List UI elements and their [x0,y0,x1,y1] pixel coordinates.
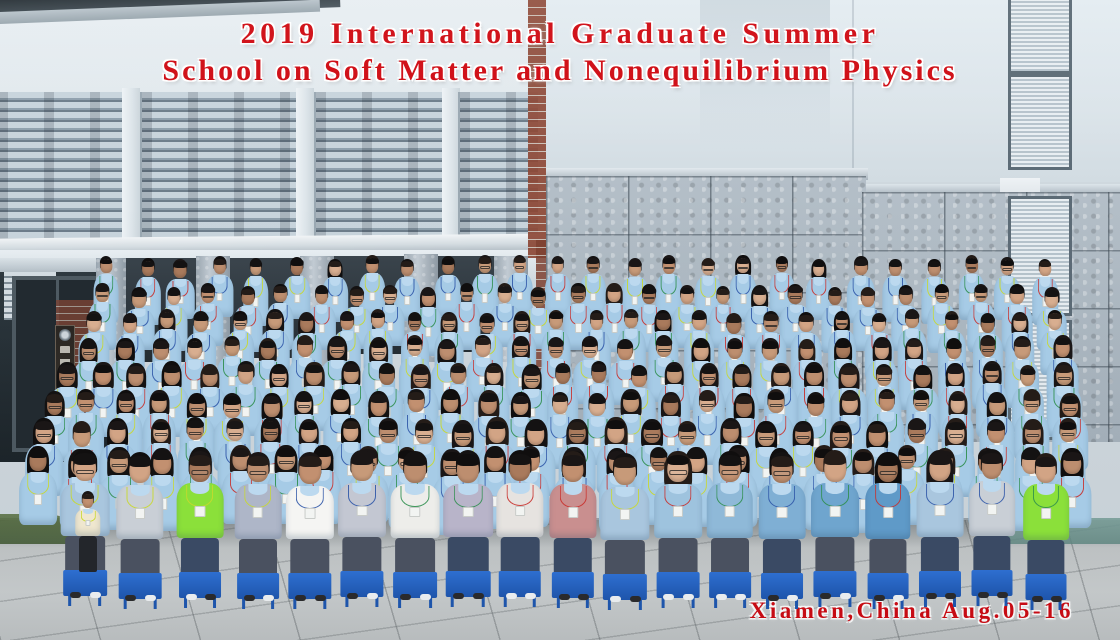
seated-person [337,451,386,611]
hair-fringe [737,258,750,264]
standing-person [19,447,58,525]
glasses-icon [331,350,343,353]
name-badge [34,494,42,505]
glasses-icon [681,436,694,439]
lanyard [926,484,953,506]
glasses-icon [352,299,363,302]
glasses-icon [480,266,490,268]
hair-fringe [841,393,858,401]
shoe [559,594,570,600]
hair-fringe [1023,393,1039,401]
hair-fringe [1062,396,1079,404]
hair-fringe [189,396,205,404]
hair-fringe [96,286,109,292]
hair-fringe [795,424,812,432]
glasses-icon [120,404,132,407]
hair-fringe [806,365,822,373]
hair-fringe [948,366,963,373]
hair-fringe [877,456,898,466]
shoe [840,593,851,599]
hair-fringe [768,392,784,400]
glasses-icon [584,350,596,353]
polo-shirt [116,485,163,539]
hair-fringe [950,394,965,402]
name-badge [305,508,316,519]
hair-fringe [129,456,151,467]
name-badge [445,293,451,302]
hair-fringe [118,393,133,400]
glasses-icon [515,266,525,268]
name-badge [253,507,263,518]
shoe [506,593,517,599]
shoe [1032,596,1043,602]
glasses-icon [878,378,890,381]
hair-fringe [371,312,385,319]
shoe [367,593,378,599]
hair-fringe [854,259,867,266]
hair-fringe [238,364,254,372]
hair-fringe [513,257,525,263]
hair-fringe [298,338,313,346]
shoe [205,594,216,600]
hair-fringe [74,453,97,464]
name-badge [85,520,91,525]
hair-fringe [889,261,901,267]
hair-fringe [657,313,671,320]
hair-fringe [1056,365,1072,373]
hair-fringe [514,339,529,346]
hair-fringe [945,314,958,320]
glasses-icon [525,379,538,382]
lanyard [1033,486,1059,508]
hair-fringe [350,289,364,296]
hair-fringe [454,424,472,433]
glasses-icon [444,324,455,327]
seated-person [496,451,544,611]
name-badge [725,506,735,517]
hair-fringe [456,454,479,465]
name-badge [357,506,368,517]
glasses-icon [777,266,786,268]
glasses-icon [298,405,310,408]
hair-fringe [82,494,94,500]
name-badge [410,507,421,518]
hair-fringe [413,367,429,375]
hair-fringe [622,392,639,400]
hair-fringe [947,341,962,348]
plastic-stool [393,572,437,598]
hair-fringe [101,259,113,265]
hair-fringe [807,395,824,403]
hair-fringe [187,420,203,428]
plastic-stool [446,571,491,597]
seated-person [285,453,334,613]
hair-fringe [874,340,889,347]
polo-shirt [549,484,596,539]
hair-fringe [451,366,466,373]
hair-fringe [552,395,567,402]
glasses-icon [949,434,963,437]
hair-fringe [988,422,1005,430]
lanyard [979,483,1005,505]
hair-fringe [692,313,706,320]
hair-fringe [608,285,621,292]
hair-fringe [618,341,633,348]
glasses-icon [225,409,239,412]
name-badge [463,507,474,518]
hair-fringe [656,338,672,346]
polo-shirt [654,484,702,538]
name-badge [482,293,488,302]
glasses-icon [550,350,562,353]
hair-fringe [771,456,793,467]
hair-fringe [509,454,531,465]
hair-fringe [562,455,584,466]
hair-fringe [642,287,655,294]
glasses-icon [967,267,977,269]
lanyard [244,486,271,508]
glasses-icon [770,404,783,407]
glasses-icon [915,403,927,406]
hair-fringe [250,261,262,267]
shoe [735,594,746,600]
hair-fringe [935,286,949,293]
hair-fringe [193,314,208,321]
polo-shirt [286,486,334,540]
hair-fringe [77,392,94,400]
hair-fringe [260,341,275,348]
hair-fringe [81,341,96,348]
hair-fringe [752,288,766,295]
hair-fringe [812,261,824,267]
glasses-icon [189,432,202,435]
child [75,492,101,578]
seated-person [969,450,1016,610]
hair-fringe [788,286,802,293]
hair-fringe [1001,260,1013,266]
hair-fringe [296,394,311,402]
glasses-icon [1025,404,1038,407]
shoe [295,595,306,601]
glasses-icon [409,349,421,352]
glasses-icon [1026,434,1039,437]
name-badge [620,509,631,520]
shoe [610,596,621,602]
seated-person [116,453,164,613]
shoe [630,596,641,602]
hair-fringe [128,366,144,374]
shoe [663,594,674,600]
lanyard [296,488,324,509]
hair-fringe [679,424,696,432]
hair-fringe [680,288,693,295]
hair-fringe [523,368,540,376]
hair-fringe [869,424,886,433]
hair-fringe [1060,422,1076,430]
hair-fringe [587,258,599,264]
hair-fringe [291,259,304,265]
polo-shirt [496,483,543,537]
lanyard [126,487,154,509]
shoe [716,594,727,600]
polo-shirt [391,484,440,537]
hair-fringe [1035,457,1056,468]
glasses-icon [1058,377,1071,380]
name-badge [195,506,205,517]
hair-fringe [590,313,603,320]
shoe [578,594,589,600]
seated-person [916,451,964,611]
hair-fringe [736,396,753,404]
hair-fringe [330,339,346,347]
hair-fringe [981,316,995,323]
hair-fringe [109,421,126,430]
hair-fringe [340,314,353,321]
hair-fringe [589,396,605,404]
shoe [453,593,464,599]
hair-fringe [118,341,133,348]
hair-fringe [187,341,202,348]
name-badge [515,506,525,517]
hair-fringe [154,341,169,349]
hair-fringe [268,312,282,319]
hair-fringe [1014,339,1030,347]
seated-person [234,453,281,613]
hair-fringe [728,341,743,348]
glasses-icon [1064,408,1077,411]
hair-fringe [1013,314,1027,321]
hair-fringe [132,290,146,297]
hair-fringe [549,339,564,346]
glasses-icon [533,300,544,303]
hair-fringe [225,339,239,346]
hair-fringe [408,392,424,400]
polo-shirt [759,484,806,539]
hair-fringe [213,259,226,265]
shoe [1051,596,1062,602]
hair-fringe [1048,313,1062,320]
glasses-icon [61,377,74,380]
polo-shirt [917,482,964,537]
shoe [683,594,694,600]
glasses-icon [703,377,715,380]
hair-fringe [201,286,215,293]
hair-fringe [443,392,459,400]
glasses-icon [982,349,994,352]
polo-shirt [1023,484,1069,539]
hair-fringe [727,316,742,323]
glasses-icon [203,296,214,299]
hair-fringe [835,313,848,319]
name-badge [673,506,683,517]
hair-fringe [629,261,641,267]
hair-fringe [73,425,91,434]
hair-fringe [776,258,788,264]
glasses-icon [834,437,848,440]
polo-shirt [865,483,910,539]
glasses-icon [155,433,168,436]
glasses-icon [414,379,427,382]
hair-fringe [989,395,1005,403]
hair-fringe [800,342,814,349]
name-badge [987,504,997,515]
glasses-icon [264,432,277,435]
hair-fringe [274,286,287,292]
shoe [90,592,101,598]
hair-fringe [299,456,322,467]
hair-fringe [975,286,988,292]
hair-fringe [87,314,102,321]
hair-fringe [189,455,211,466]
hair-fringe [29,449,47,458]
glasses-icon [571,434,584,437]
hair-fringe [663,395,679,403]
glasses-icon [417,435,430,438]
hair-fringe [422,290,435,296]
hair-fringe [383,287,397,294]
hair-fringe [694,341,709,349]
hair-fringe [758,424,775,433]
shoe [420,594,431,600]
hair-fringe [35,421,53,430]
hair-fringe [981,453,1002,464]
glasses-icon [1062,433,1075,436]
hair-fringe [799,315,813,322]
glasses-icon [936,296,947,299]
lanyard [768,486,795,508]
glasses-icon [48,406,61,409]
name-badge [1041,508,1051,519]
polo-shirt [443,484,493,537]
hair-fringe [700,393,715,401]
hair-fringe [613,457,636,468]
hair-fringe [905,312,918,319]
glasses-icon [986,375,998,378]
shoe [315,595,326,601]
hair-fringe [1045,290,1059,297]
name-badge [666,294,672,303]
plastic-stool [603,574,647,600]
hair-fringe [702,260,714,266]
seated-person [1023,454,1070,614]
lanyard [821,485,849,507]
lanyard [875,485,901,507]
shoe [347,593,358,599]
shoe [70,592,81,598]
glasses-icon [796,436,809,439]
shoe [874,595,885,601]
seated-person [654,452,703,612]
hair-fringe [498,286,512,293]
glasses-icon [773,471,790,475]
polo-shirt [707,483,754,538]
hair-fringe [460,285,473,291]
shoe [244,595,255,601]
shoe [926,593,937,599]
glasses-icon [910,434,924,437]
hair-fringe [442,259,454,265]
hair-fringe [174,261,187,268]
hair-fringe [1055,338,1070,346]
hair-fringe [224,396,241,404]
glasses-icon [1003,268,1013,270]
hair-fringe [631,368,646,375]
hair-fringe [332,392,349,400]
glasses-icon [589,267,599,269]
hair-fringe [832,425,850,434]
hair-fringe [899,288,913,295]
hair-fringe [234,314,247,320]
hair-fringe [480,393,497,401]
hair-fringe [764,314,779,321]
glasses-icon [760,437,774,440]
hair-fringe [488,421,506,430]
polo-shirt [811,483,859,537]
glasses-icon [249,471,266,475]
hair-fringe [569,422,586,430]
hair-fringe [227,421,243,429]
seated-person [758,453,806,613]
lanyard [454,486,483,507]
lanyard [717,485,744,507]
hair-fringe [1039,261,1051,267]
glasses-icon [669,470,687,474]
hair-fringe [479,257,491,263]
hair-fringe [773,366,789,374]
hair-fringe [607,420,625,429]
name-badge [404,296,410,305]
hair-fringe [701,366,716,373]
group-photo: 2019 International Graduate Summer Schoo… [0,0,1120,640]
hair-fringe [625,312,638,319]
hair-fringe [829,290,842,296]
name-badge [935,505,945,516]
lanyard [506,485,533,507]
polo-shirt [75,509,100,536]
hair-fringe [407,338,422,345]
hair-fringe [966,258,978,264]
hair-fringe [59,365,75,373]
hair-fringe [527,422,545,431]
hair-fringe [861,289,875,296]
hair-fringe [908,421,926,430]
hair-fringe [824,454,846,465]
hair-fringe [582,339,598,347]
hair-fringe [985,364,1000,371]
hair-fringe [928,261,940,267]
hair-fringe [202,367,217,375]
hair-fringe [643,422,661,431]
hair-fringe [443,314,456,321]
hair-fringe [1010,287,1024,294]
hair-fringe [980,338,995,345]
lanyard [664,486,692,508]
hair-fringe [907,340,921,347]
shoe [768,595,779,601]
hair-fringe [263,421,279,429]
lanyard [559,486,586,508]
glasses-icon [381,434,395,437]
hair-fringe [344,364,359,372]
shoe [400,594,411,600]
seated-person [706,452,753,612]
glasses-icon [79,404,92,407]
legs [79,536,97,572]
shoe [473,593,484,599]
polo-shirt [600,487,649,540]
glasses-icon [482,326,493,329]
hair-fringe [836,341,850,348]
